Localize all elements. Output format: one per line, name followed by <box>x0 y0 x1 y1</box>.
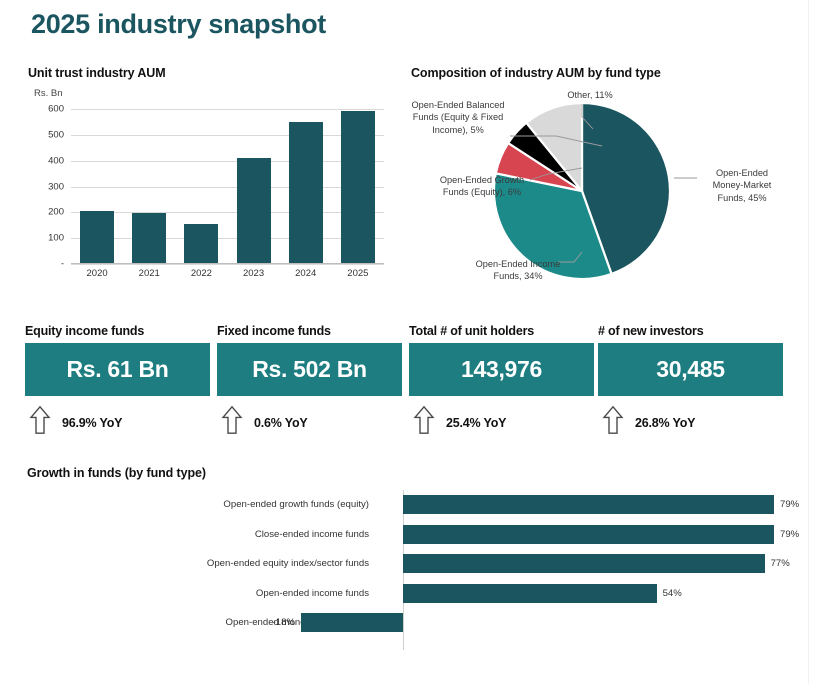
kpi-card-fixed-income-funds[interactable]: Fixed income fundsRs. 502 Bn0.6% YoY <box>217 324 402 440</box>
arrow-up-outline-icon <box>602 405 624 440</box>
pie-label-income: Open-Ended Income Funds, 34% <box>468 258 568 283</box>
aum-plot-area: 600500400300200100- <box>71 109 384 264</box>
aum-bar-slot <box>228 108 280 263</box>
aum-x-label-2020: 2020 <box>71 268 123 279</box>
aum-y-tick-label: 300 <box>48 181 64 192</box>
dashboard-canvas: 2025 industry snapshot Unit trust indust… <box>0 0 818 684</box>
growth-value-label: 77% <box>771 558 790 569</box>
kpi-card-equity-income-funds[interactable]: Equity income fundsRs. 61 Bn96.9% YoY <box>25 324 210 440</box>
growth-bar-zone: 79% <box>403 520 799 549</box>
aum-y-tick-label: 600 <box>48 104 64 115</box>
aum-bar-2020[interactable] <box>80 211 114 263</box>
growth-category-label: Close-ended income funds <box>27 529 369 540</box>
growth-row: Open-ended money-market funds-18% <box>27 608 809 637</box>
kpi-title: Fixed income funds <box>217 324 402 338</box>
aum-bar-series <box>71 108 384 263</box>
growth-bar-open-ended-income-funds[interactable] <box>403 584 657 603</box>
aum-bar-2022[interactable] <box>184 224 218 263</box>
aum-y-tick-label: - <box>61 259 64 270</box>
arrow-up-outline-icon <box>29 405 51 435</box>
section-heading-growth: Growth in funds (by fund type) <box>27 466 206 480</box>
aum-x-label-2023: 2023 <box>228 268 280 279</box>
arrow-up-outline-icon <box>413 405 435 435</box>
kpi-footer: 26.8% YoY <box>598 405 783 440</box>
arrow-up-outline-icon <box>221 405 243 440</box>
aum-bar-slot <box>280 108 332 263</box>
arrow-up-outline-icon <box>29 405 51 440</box>
kpi-delta: 96.9% YoY <box>62 416 122 430</box>
kpi-title: Equity income funds <box>25 324 210 338</box>
growth-bar-open-ended-growth-funds-equity[interactable] <box>403 495 774 514</box>
kpi-value: Rs. 502 Bn <box>252 356 367 383</box>
section-heading-aum: Unit trust industry AUM <box>28 66 166 80</box>
aum-bar-2024[interactable] <box>289 122 323 263</box>
pie-label-growth: Open-Ended Growth Funds (Equity), 6% <box>433 174 531 199</box>
aum-bar-2023[interactable] <box>237 158 271 263</box>
y-axis-unit-label: Rs. Bn <box>34 88 63 99</box>
kpi-value: Rs. 61 Bn <box>66 356 168 383</box>
page-title: 2025 industry snapshot <box>31 9 326 40</box>
growth-value-label: 79% <box>780 499 799 510</box>
arrow-up-outline-icon <box>602 405 624 435</box>
aum-gridline: - <box>71 264 384 265</box>
arrow-up-outline-icon <box>221 405 243 435</box>
aum-x-axis-labels: 202020212022202320242025 <box>71 268 384 279</box>
kpi-value-box: Rs. 502 Bn <box>217 343 402 396</box>
aum-bar-slot <box>175 108 227 263</box>
growth-value-label: 79% <box>780 529 799 540</box>
arrow-up-outline-icon <box>413 405 435 440</box>
kpi-value: 30,485 <box>656 356 725 383</box>
aum-x-label-2024: 2024 <box>280 268 332 279</box>
pie-label-money: Open-Ended Money-Market Funds, 45% <box>700 167 784 204</box>
growth-row: Open-ended income funds54% <box>27 579 809 608</box>
aum-y-tick-label: 500 <box>48 129 64 140</box>
aum-bar-2021[interactable] <box>132 213 166 263</box>
kpi-card-total-of-unit-holders[interactable]: Total # of unit holders143,97625.4% YoY <box>409 324 594 440</box>
growth-category-label: Open-ended equity index/sector funds <box>27 558 369 569</box>
growth-bar-chart: Open-ended growth funds (equity)79%Close… <box>27 490 809 650</box>
section-heading-composition: Composition of industry AUM by fund type <box>411 66 661 80</box>
growth-bar-open-ended-equity-index-sector-funds[interactable] <box>403 554 765 573</box>
kpi-value-box: 30,485 <box>598 343 783 396</box>
growth-value-label: 54% <box>663 588 682 599</box>
aum-bar-slot <box>332 108 384 263</box>
growth-row: Open-ended growth funds (equity)79% <box>27 490 809 519</box>
aum-baseline <box>71 263 384 264</box>
aum-x-label-2021: 2021 <box>123 268 175 279</box>
kpi-footer: 96.9% YoY <box>25 405 210 440</box>
aum-column-chart: Rs. Bn 600500400300200100- 2020202120222… <box>28 88 388 298</box>
kpi-delta: 0.6% YoY <box>254 416 308 430</box>
growth-row: Open-ended equity index/sector funds77% <box>27 549 809 578</box>
growth-bar-close-ended-income-funds[interactable] <box>403 525 774 544</box>
kpi-value-box: 143,976 <box>409 343 594 396</box>
growth-bar-zone: 54% <box>403 579 682 608</box>
kpi-footer: 0.6% YoY <box>217 405 402 440</box>
growth-bar-open-ended-money-market-funds[interactable] <box>301 613 403 632</box>
aum-bar-2025[interactable] <box>341 111 375 263</box>
aum-y-tick-label: 100 <box>48 233 64 244</box>
kpi-value: 143,976 <box>461 356 542 383</box>
aum-x-label-2025: 2025 <box>332 268 384 279</box>
kpi-footer: 25.4% YoY <box>409 405 594 440</box>
pie-label-other: Other, 11% <box>542 89 638 101</box>
aum-y-tick-label: 400 <box>48 155 64 166</box>
aum-y-tick-label: 200 <box>48 207 64 218</box>
composition-pie-chart: Open-Ended Money-Market Funds, 45%Open-E… <box>406 84 818 296</box>
growth-category-label: Open-ended growth funds (equity) <box>27 499 369 510</box>
growth-bar-zone: -18% <box>27 608 403 637</box>
pie-label-balanced: Open-Ended Balanced Funds (Equity & Fixe… <box>408 99 508 136</box>
aum-x-label-2022: 2022 <box>175 268 227 279</box>
kpi-delta: 26.8% YoY <box>635 416 695 430</box>
growth-bar-zone: 79% <box>403 490 799 519</box>
growth-value-label: -18% <box>273 617 295 628</box>
kpi-title: # of new investors <box>598 324 783 338</box>
kpi-title: Total # of unit holders <box>409 324 594 338</box>
growth-category-label: Open-ended income funds <box>27 588 369 599</box>
kpi-value-box: Rs. 61 Bn <box>25 343 210 396</box>
kpi-delta: 25.4% YoY <box>446 416 506 430</box>
aum-bar-slot <box>71 108 123 263</box>
growth-bar-zone: 77% <box>403 549 790 578</box>
aum-bar-slot <box>123 108 175 263</box>
kpi-card-of-new-investors[interactable]: # of new investors30,48526.8% YoY <box>598 324 783 440</box>
growth-row: Close-ended income funds79% <box>27 520 809 549</box>
